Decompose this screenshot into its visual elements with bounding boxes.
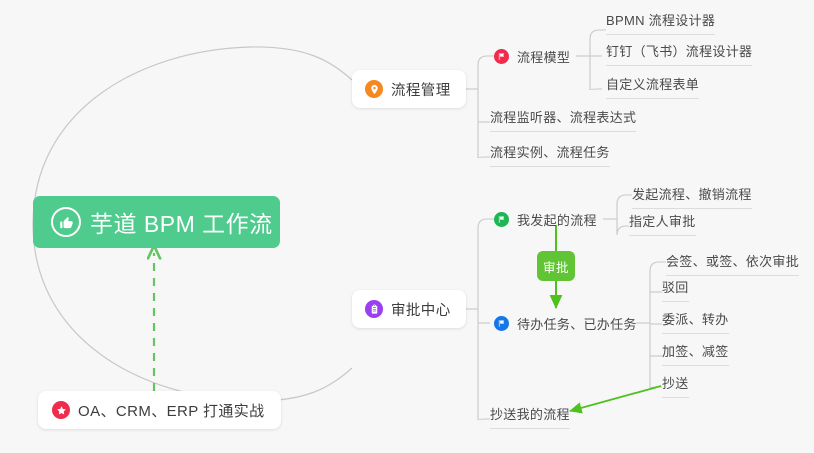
node-todo-done-tasks[interactable]: 待办任务、已办任务: [494, 314, 637, 338]
leaf-dingtalk-designer[interactable]: 钉钉（飞书）流程设计器: [606, 43, 752, 66]
connector-started-to-assignee: [617, 226, 629, 235]
connector-ac-to-cc: [478, 419, 490, 420]
connector-todo-to-countersign: [650, 262, 666, 271]
leaf-launch-cancel-process[interactable]: 发起流程、撤销流程: [632, 186, 752, 209]
leaf-add-remove-sign[interactable]: 加签、减签: [662, 343, 729, 366]
connector-pm-to-model: [478, 56, 494, 65]
annotation-arrow-cc: [570, 386, 661, 411]
node-process-model[interactable]: 流程模型: [494, 47, 570, 71]
flag-icon: [494, 49, 509, 64]
branch-label: 审批中心: [391, 299, 451, 320]
connector-pm-to-instance: [478, 157, 490, 158]
leaf-cc-to-me-processes[interactable]: 抄送我的流程: [490, 406, 570, 429]
leaf-countersign[interactable]: 会签、或签、依次审批: [666, 253, 799, 276]
connector-todo-to-cc: [650, 387, 662, 388]
node-label: 待办任务、已办任务: [517, 314, 637, 333]
flag-icon: [494, 316, 509, 331]
annotation-chip-label: 审批: [543, 257, 569, 276]
leaf-process-instance[interactable]: 流程实例、流程任务: [490, 144, 610, 167]
thumbs-up-icon: [51, 207, 81, 237]
leaf-bpmn-designer[interactable]: BPMN 流程设计器: [606, 12, 715, 35]
connector-root-to-approval-center: [33, 224, 352, 401]
leaf-assignee-approval[interactable]: 指定人审批: [629, 213, 696, 236]
node-my-started-processes[interactable]: 我发起的流程: [494, 210, 597, 234]
leaf-custom-form[interactable]: 自定义流程表单: [606, 76, 699, 99]
annotation-chip-approval: 审批: [537, 251, 575, 281]
mindmap-canvas: 芋道 BPM 工作流 流程管理 流程模型 BPMN 流程设计器 钉钉（飞书）流程…: [0, 0, 814, 453]
floating-node-label: OA、CRM、ERP 打通实战: [78, 400, 265, 421]
connector-started-to-launch: [617, 195, 632, 204]
location-pin-icon: [365, 80, 383, 98]
node-label: 流程模型: [517, 47, 570, 66]
root-node-label: 芋道 BPM 工作流: [90, 205, 273, 239]
branch-node-process-management[interactable]: 流程管理: [352, 70, 466, 108]
star-icon: [52, 401, 70, 419]
floating-node-integration[interactable]: OA、CRM、ERP 打通实战: [38, 391, 281, 429]
node-label: 我发起的流程: [517, 210, 597, 229]
leaf-process-listener[interactable]: 流程监听器、流程表达式: [490, 109, 636, 132]
leaf-carbon-copy[interactable]: 抄送: [662, 375, 689, 398]
leaf-reject[interactable]: 驳回: [662, 279, 689, 302]
connector-model-to-bpmn: [590, 30, 606, 39]
leaf-delegate-transfer[interactable]: 委派、转办: [662, 311, 729, 334]
flag-icon: [494, 212, 509, 227]
branch-label: 流程管理: [391, 79, 451, 100]
root-node[interactable]: 芋道 BPM 工作流: [33, 196, 280, 248]
branch-node-approval-center[interactable]: 审批中心: [352, 290, 466, 328]
connector-model-to-customform: [590, 89, 602, 90]
connector-ac-to-started: [478, 219, 494, 228]
clipboard-icon: [365, 300, 383, 318]
